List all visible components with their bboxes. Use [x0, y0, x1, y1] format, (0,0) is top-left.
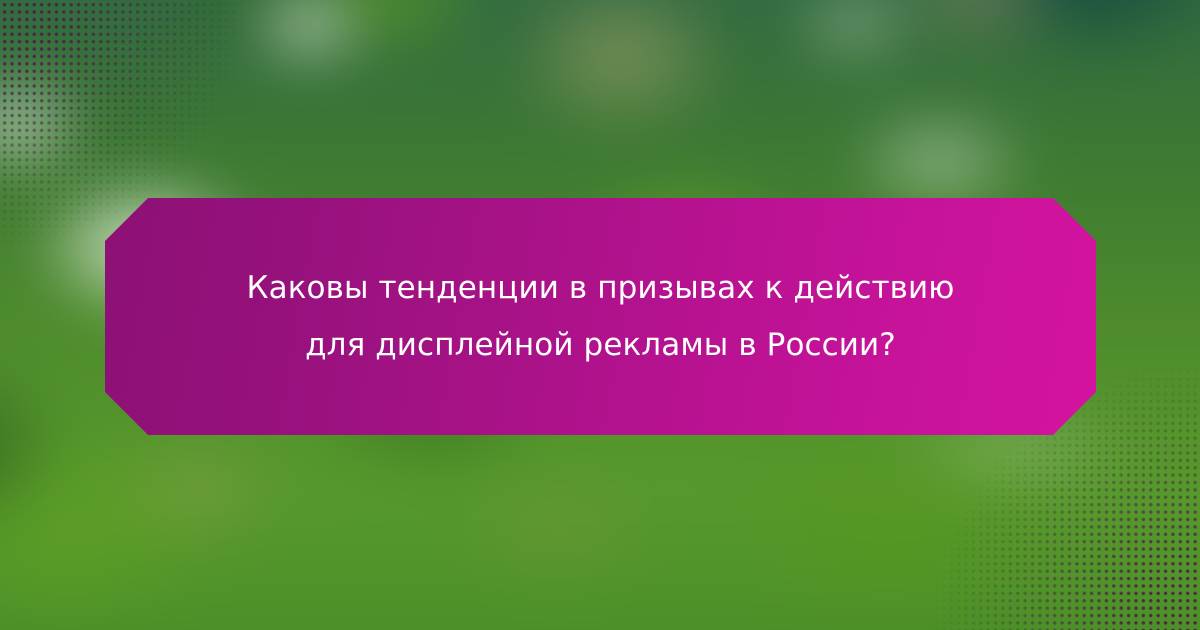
- social-share-card: Каковы тенденции в призывах к действию д…: [0, 0, 1200, 630]
- headline-line-1: Каковы тенденции в призывах к действию: [246, 273, 954, 304]
- headline-line-2: для дисплейной рекламы в России?: [305, 330, 896, 361]
- headline-banner: Каковы тенденции в призывах к действию д…: [105, 198, 1096, 435]
